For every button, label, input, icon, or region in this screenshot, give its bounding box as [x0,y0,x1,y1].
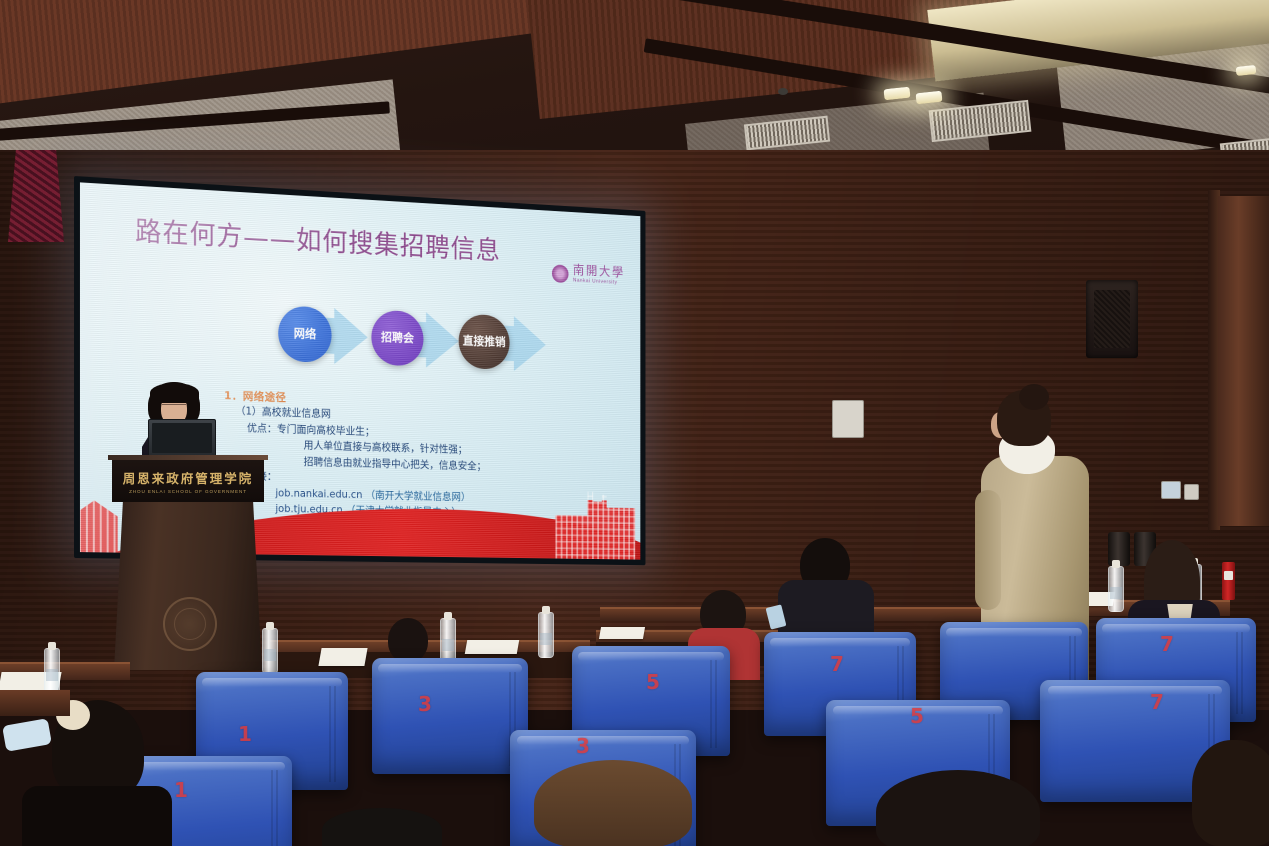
water-bottle-5 [1108,566,1124,612]
name-card-1 [318,648,367,666]
seat-number: 1 [238,722,252,746]
wall-panel-box [832,400,864,438]
presenter-skirt [8,150,64,242]
wall-switch-2[interactable] [1161,481,1181,499]
face-mask-icon [2,718,52,752]
university-seal-icon [552,264,569,283]
chair-row-back-3[interactable]: 3 [372,658,528,774]
podium-nameplate: 周恩来政府管理学院 ZHOU ENLAI SCHOOL OF GOVERNMEN… [112,460,264,502]
podium: 周恩来政府管理学院 ZHOU ENLAI SCHOOL OF GOVERNMEN… [108,455,268,670]
wall-switch-3[interactable] [1184,484,1199,500]
water-bottle-3 [538,612,554,658]
water-bottle-1 [262,628,278,674]
water-bottle-7 [44,648,60,694]
presenter-fringe [150,383,199,403]
seat-number: 1 [174,778,188,802]
attendee-head-far-1 [388,618,428,662]
seat-number: 3 [418,692,432,716]
presenter-laptop[interactable] [148,419,216,459]
process-flow-diagram: 网络 招聘会 直接推销 [278,300,568,381]
fire-extinguisher-icon [1222,562,1235,600]
logo-text-en: Nankai University [573,279,625,287]
slide-section-heading: 1．网络途径 [224,387,286,405]
podium-sign-en: ZHOU ENLAI SCHOOL OF GOVERNMENT [129,489,247,494]
foreground-attendee-head-2 [534,760,692,846]
door[interactable] [1218,196,1269,526]
red-building-right-icon [555,491,635,560]
standing-attendee-arm [975,490,1001,610]
name-card-4 [599,627,645,639]
foreground-attendee-body-1 [22,786,172,846]
podium-body [114,502,262,670]
flow-node-direct: 直接推销 [459,314,510,370]
seat-number: 5 [646,670,660,694]
seat-number: 5 [910,704,924,728]
seat-number: 3 [576,734,590,758]
flow-node-jobfair: 招聘会 [371,310,423,367]
nankai-university-logo: 南開大學 Nankai University [552,263,625,286]
foreground-attendee-head-4 [1192,740,1269,846]
presenter-glasses-icon [162,404,186,410]
smoke-detector-icon [778,88,788,95]
ceiling-downlight-1 [883,87,910,101]
seat-number: 7 [1160,632,1174,656]
podium-seal-icon [163,597,217,651]
slide-title: 路在何方——如何搜集招聘信息 [135,210,501,268]
foreground-attendee-head-5 [322,808,442,846]
lecture-hall-scene: 路在何方——如何搜集招聘信息 南開大學 Nankai University 网络… [0,0,1269,846]
seat-number: 7 [1150,690,1164,714]
wall-speaker [1086,280,1138,358]
desk-left-surface [0,690,70,716]
name-card-3 [465,640,519,654]
foreground-attendee-head-3 [876,770,1040,846]
flow-node-network: 网络 [278,305,331,363]
standing-attendee-hairbun [1019,384,1049,410]
podium-sign-cn: 周恩来政府管理学院 [123,468,254,487]
seat-number: 7 [830,652,844,676]
